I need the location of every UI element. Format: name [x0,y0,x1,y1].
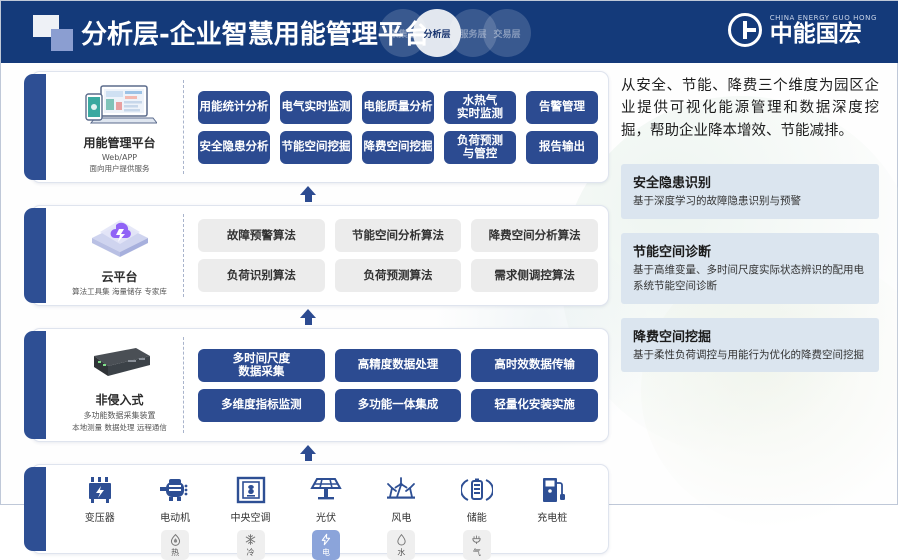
device-label: 中央空调 [215,509,287,524]
connector-arrow-1 [31,183,609,205]
algorithm-button[interactable]: 需求侧调控算法 [471,259,598,292]
capability-button[interactable]: 高精度数据处理 [335,349,462,382]
algorithm-button[interactable]: 节能空间分析算法 [335,219,462,252]
badge-label: 电 [322,547,330,558]
laptop-phone-dashboard-icon [62,80,177,132]
page-title: 分析层-企业智慧用能管理平台 [81,14,430,51]
intro-paragraph: 从安全、节能、降费三个维度为园区企业提供可视化能源管理和数据深度挖掘，帮助企业降… [621,75,879,142]
header-bar: 分析层-企业智慧用能管理平台 采集层 服务层 交易层 分析层 CHINA ENE… [1,1,898,63]
energy-badge-electricity[interactable]: 电 [312,530,340,560]
wind-turbine-icon [365,473,437,507]
device-item-motor[interactable]: 电动机 热 [139,473,211,560]
panel-identity: 云平台 算法工具集 海量储存 专家库 [62,214,184,297]
info-card-desc: 基于高维变量、多时间尺度实际状态辨识的配用电系统节能空间诊断 [633,263,869,295]
capability-button[interactable]: 多功能一体集成 [335,389,462,422]
info-card-desc: 基于柔性负荷调控与用能行为优化的降费空间挖掘 [633,348,869,364]
layer-circle-analysis[interactable]: 分析层 [413,9,461,57]
device-label: 变压器 [64,509,136,524]
device-item-solar[interactable]: 光伏 电 [290,473,362,560]
charging-pile-icon [516,473,588,507]
panel-subtitle-2: 面向用户提供服务 [62,163,177,174]
panel-title: 用能管理平台 [62,134,177,151]
solar-panel-icon [290,473,362,507]
energy-badge-gas[interactable]: 气 [463,530,491,560]
energy-badge-cold[interactable]: 冷 [237,530,265,560]
info-card-energy-saving: 节能空间诊断 基于高维变量、多时间尺度实际状态辨识的配用电系统节能空间诊断 [621,233,879,304]
feature-button[interactable]: 用能统计分析 [198,91,270,124]
panel-subtitle: Web/APP [62,153,177,162]
device-label: 充电桩 [516,509,588,524]
capability-button[interactable]: 多时间尺度 数据采集 [198,349,325,382]
battery-storage-icon [441,473,513,507]
snowflake-icon [244,533,257,546]
energy-badge-heat[interactable]: 热 [161,530,189,560]
badge-label: 热 [171,547,179,558]
right-description-column: 从安全、节能、降费三个维度为园区企业提供可视化能源管理和数据深度挖掘，帮助企业降… [621,75,879,372]
info-card-desc: 基于深度学习的故障隐患识别与预警 [633,194,869,210]
feature-button[interactable]: 告警管理 [526,91,598,124]
panel-title: 非侵入式 [62,391,177,408]
algorithm-button[interactable]: 负荷识别算法 [198,259,325,292]
info-card-safety: 安全隐患识别 基于深度学习的故障隐患识别与预警 [621,164,879,219]
capability-button[interactable]: 高时效数据传输 [471,349,598,382]
transformer-icon [64,473,136,507]
device-item-charging-pile[interactable]: 充电桩 [516,473,588,524]
info-card-title: 节能空间诊断 [633,241,869,260]
capability-button[interactable]: 轻量化安装实施 [471,389,598,422]
feature-button[interactable]: 电气实时监测 [280,91,352,124]
panel-subtitle: 算法工具集 海量储存 专家库 [62,286,177,297]
info-card-title: 安全隐患识别 [633,172,869,191]
panel-title: 云平台 [62,268,177,285]
panel-subtitle: 多功能数据采集装置 [62,410,177,421]
panel-subtitle-2: 本地测量 数据处理 远程通信 [62,422,177,433]
energy-badge-water[interactable]: 水 [387,530,415,560]
connector-arrow-3 [31,442,609,464]
feature-button[interactable]: 节能空间挖掘 [280,131,352,164]
feature-button[interactable]: 负荷预测 与管控 [444,131,516,164]
feature-button[interactable]: 安全隐患分析 [198,131,270,164]
motor-icon [139,473,211,507]
algorithm-button[interactable]: 负荷预测算法 [335,259,462,292]
flame-drop-icon [169,533,182,546]
layer-circle-label: 交易层 [493,27,520,40]
layer-circle-transaction[interactable]: 交易层 [483,9,531,57]
slide-page: 分析层-企业智慧用能管理平台 采集层 服务层 交易层 分析层 CHINA ENE… [0,0,898,505]
device-label: 电动机 [139,509,211,524]
panel-cloud-layer: 云平台 算法工具集 海量储存 专家库 故障预警算法 节能空间分析算法 降费空间分… [31,205,609,306]
device-label: 储能 [441,509,513,524]
badge-label: 气 [473,547,481,558]
brand-chinese-name: 中能国宏 [770,22,877,46]
device-strip: 变压器 电动机 [31,464,609,554]
feature-button[interactable]: 降费空间挖掘 [362,131,434,164]
device-label: 风电 [365,509,437,524]
panel-device-layer: 非侵入式 多功能数据采集装置 本地测量 数据处理 远程通信 多时间尺度 数据采集… [31,328,609,442]
algorithm-button[interactable]: 降费空间分析算法 [471,219,598,252]
badge-label: 冷 [247,547,255,558]
water-drop-icon [395,533,408,546]
feature-button[interactable]: 报告输出 [526,131,598,164]
lightning-icon [319,533,332,546]
architecture-stack: 用能管理平台 Web/APP 面向用户提供服务 用能统计分析 电气实时监测 电能… [31,71,609,554]
squares-logo-icon [33,15,73,51]
device-item-transformer[interactable]: 变压器 [64,473,136,524]
feature-button[interactable]: 水热气 实时监测 [444,91,516,124]
device-item-wind[interactable]: 风电 水 [365,473,437,560]
central-ac-icon [215,473,287,507]
layer-circle-label: 分析层 [423,27,450,40]
feature-button[interactable]: 电能质量分析 [362,91,434,124]
badge-label: 水 [397,547,405,558]
connector-arrow-2 [31,306,609,328]
device-item-central-ac[interactable]: 中央空调 冷 [215,473,287,560]
device-label: 光伏 [290,509,362,524]
info-card-cost-reduction: 降费空间挖掘 基于柔性负荷调控与用能行为优化的降费空间挖掘 [621,318,879,373]
algorithm-button[interactable]: 故障预警算法 [198,219,325,252]
panel-identity: 用能管理平台 Web/APP 面向用户提供服务 [62,80,184,174]
guohong-mark-icon [728,13,762,47]
company-logo: CHINA ENERGY GUO HONG 中能国宏 [728,13,877,47]
panel-platform-layer: 用能管理平台 Web/APP 面向用户提供服务 用能统计分析 电气实时监测 电能… [31,71,609,183]
gas-burner-icon [470,533,483,546]
panel-identity: 非侵入式 多功能数据采集装置 本地测量 数据处理 远程通信 [62,337,184,433]
capability-button[interactable]: 多维度指标监测 [198,389,325,422]
cloud-platform-box-icon [62,214,177,266]
data-collector-device-icon [62,337,177,389]
device-item-storage[interactable]: 储能 气 [441,473,513,560]
info-card-title: 降费空间挖掘 [633,326,869,345]
